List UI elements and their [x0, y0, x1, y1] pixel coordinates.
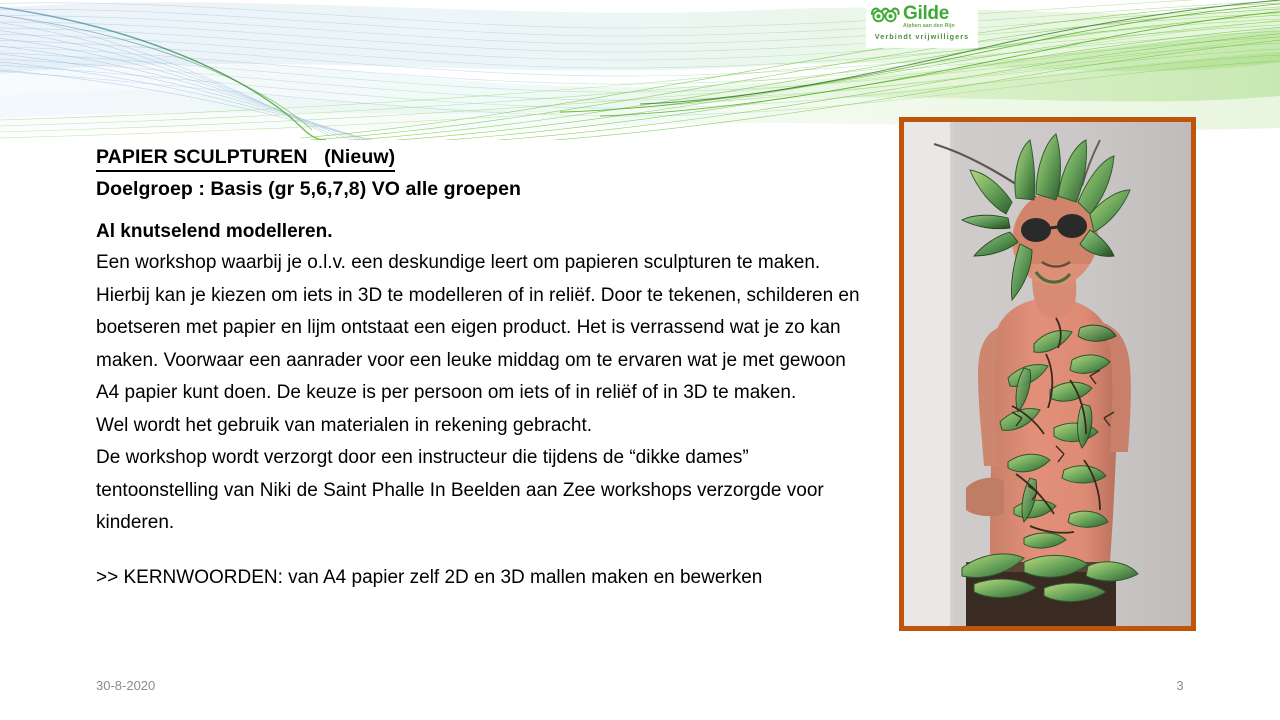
- sculpture-illustration: [904, 122, 1191, 626]
- logo-location: Alphen aan den Rijn: [903, 24, 955, 29]
- description-paragraph-2: Wel wordt het gebruik van materialen in …: [96, 410, 866, 443]
- logo-name: Gilde: [903, 4, 955, 23]
- slide: Gilde Alphen aan den Rijn Verbindt vrijw…: [0, 0, 1280, 720]
- footer-page-number: 3: [1168, 678, 1192, 693]
- gilde-logo: Gilde Alphen aan den Rijn Verbindt vrijw…: [866, 2, 978, 48]
- footer-date: 30-8-2020: [96, 678, 155, 693]
- logo-tagline: Verbindt vrijwilligers: [870, 32, 974, 41]
- owl-icon: [870, 6, 900, 28]
- description-paragraph-3: De workshop wordt verzorgt door een inst…: [96, 442, 866, 540]
- lead-line: Al knutselend modelleren.: [96, 221, 866, 243]
- page-title: PAPIER SCULPTUREN (Nieuw): [96, 146, 395, 172]
- keywords-line: >> KERNWOORDEN: van A4 papier zelf 2D en…: [96, 563, 866, 593]
- slide-content: PAPIER SCULPTUREN (Nieuw) Doelgroep : Ba…: [96, 146, 866, 593]
- target-group-line: Doelgroep : Basis (gr 5,6,7,8) VO alle g…: [96, 178, 866, 201]
- description-paragraph-1: Een workshop waarbij je o.l.v. een desku…: [96, 247, 866, 410]
- sculpture-photo: [899, 117, 1196, 631]
